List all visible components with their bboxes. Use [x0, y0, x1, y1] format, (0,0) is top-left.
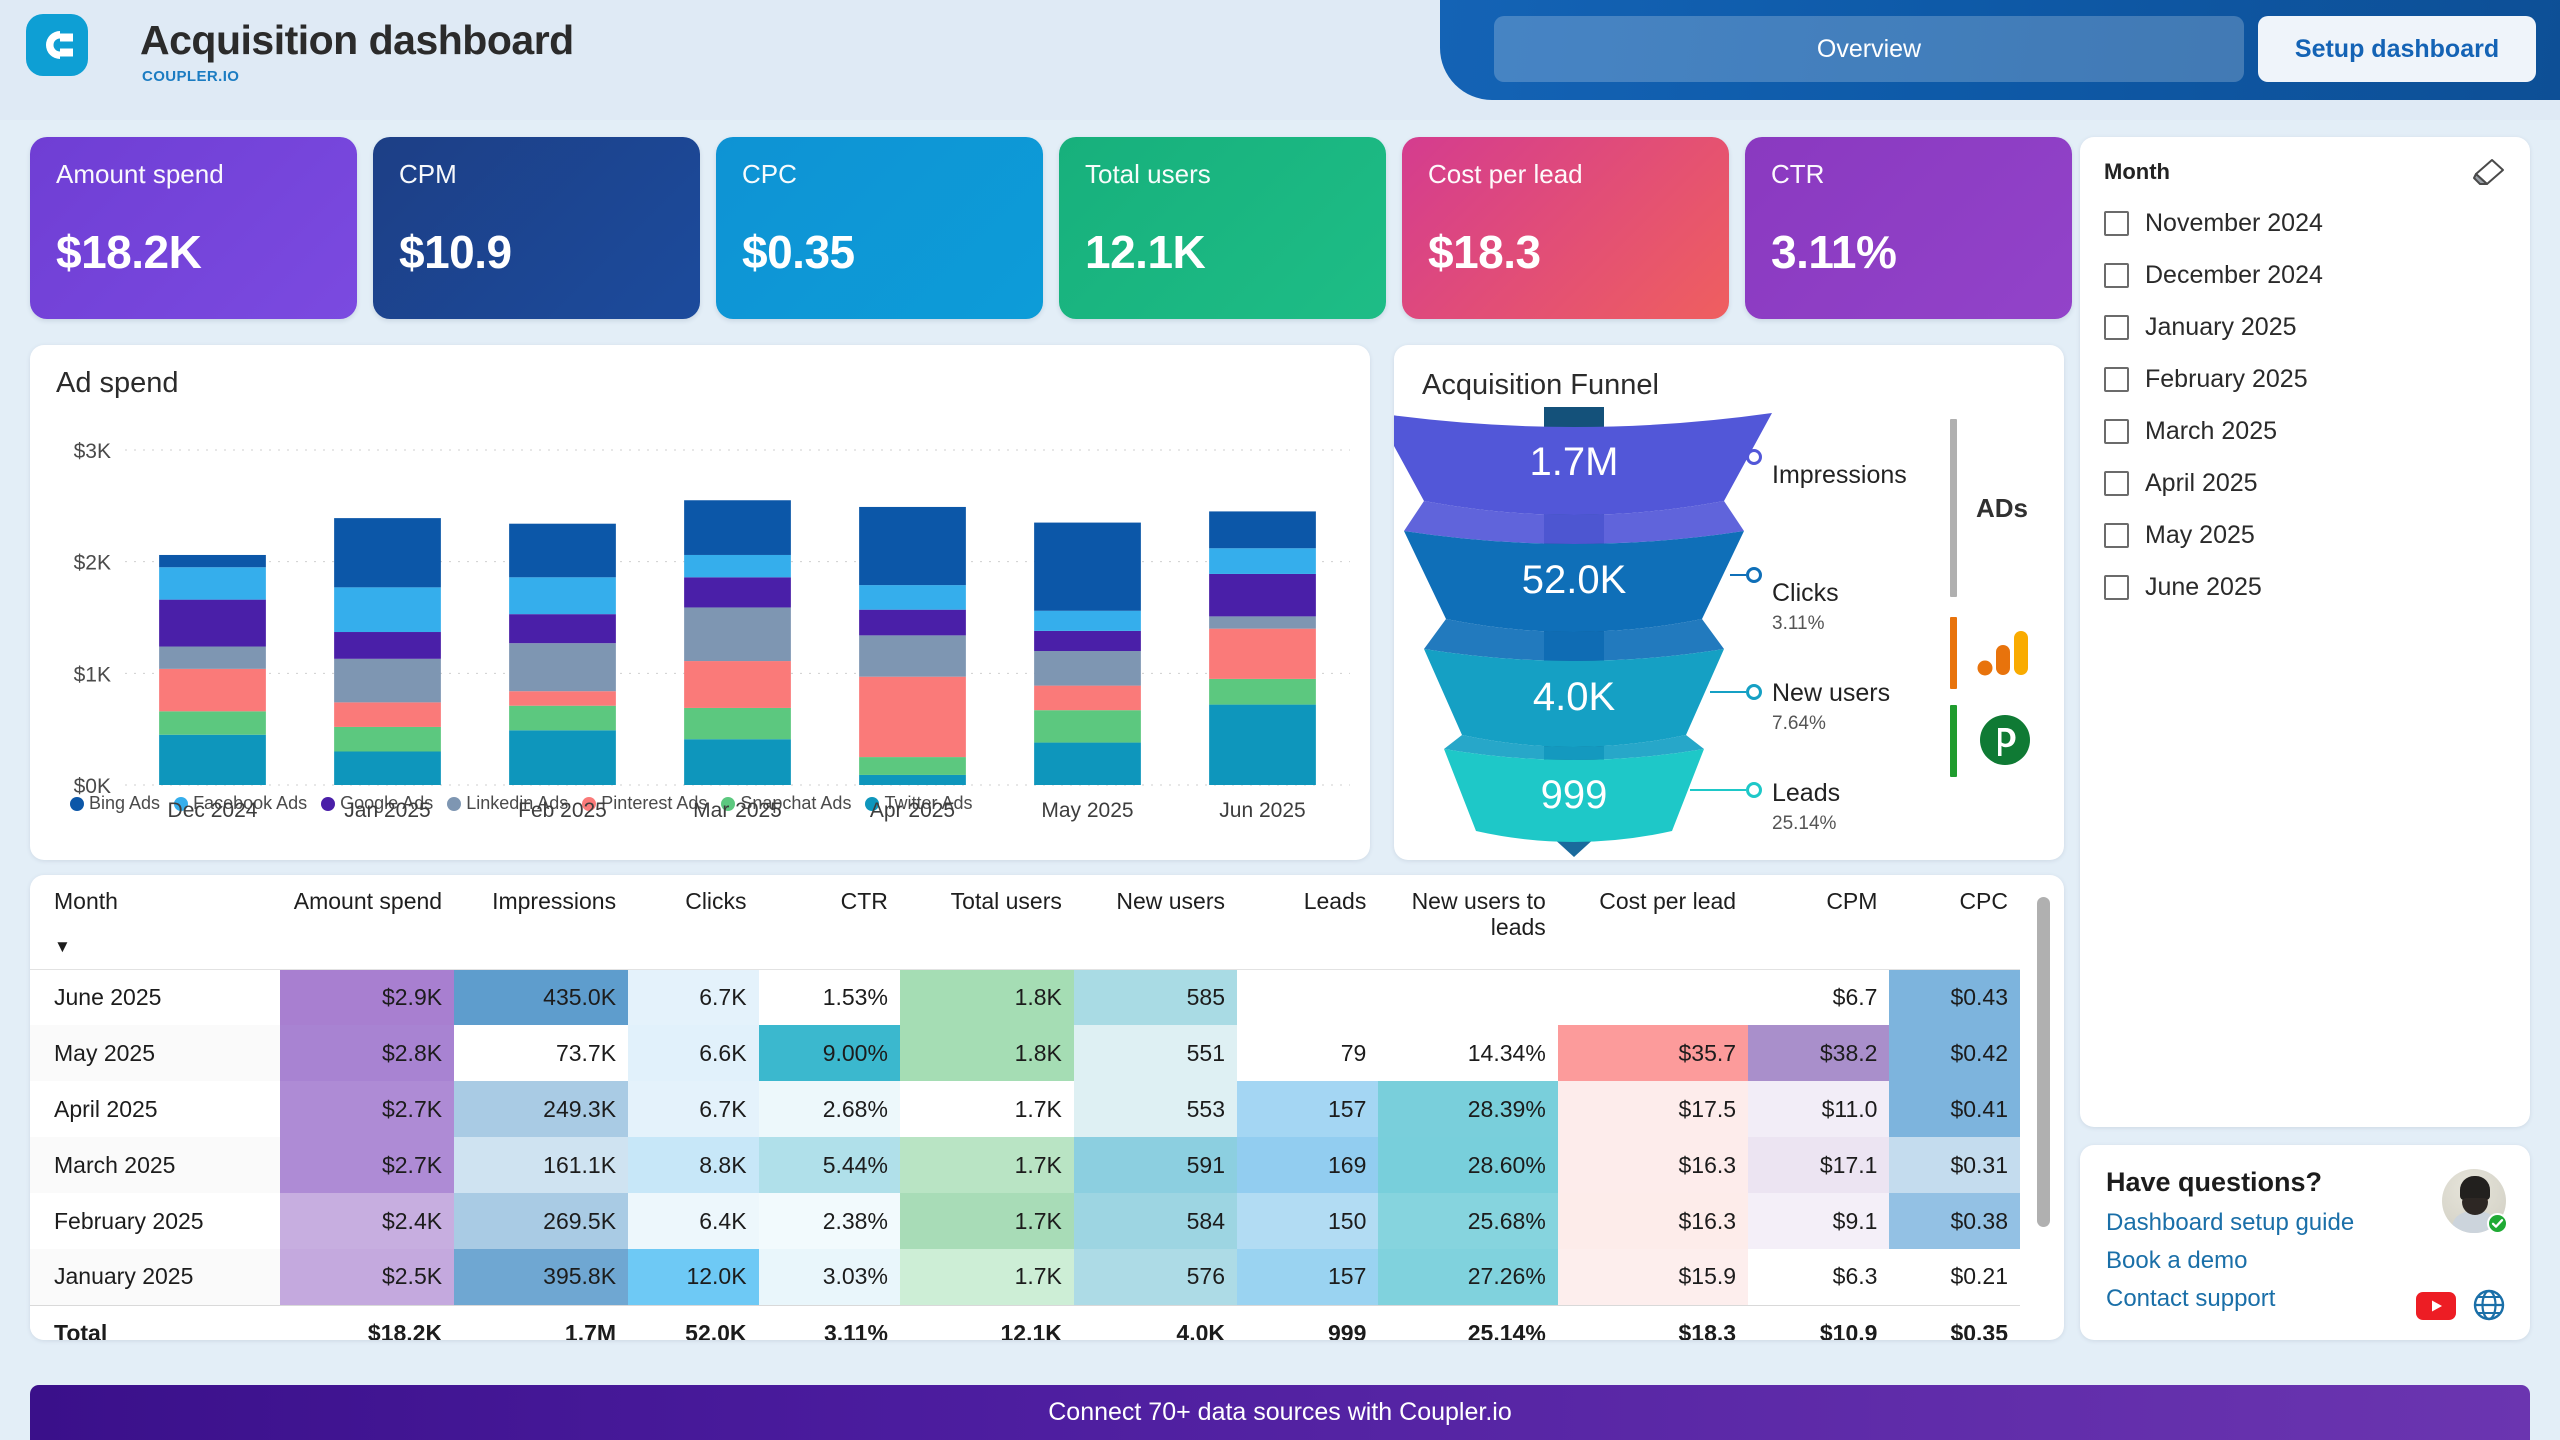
table-cell: $0.38 [1889, 1193, 2020, 1249]
month-option-label: April 2025 [2145, 469, 2258, 498]
table-cell: 28.39% [1378, 1081, 1557, 1137]
table-row[interactable]: January 2025$2.5K395.8K12.0K3.03%1.7K576… [30, 1249, 2020, 1305]
table-cell: 73.7K [454, 1025, 628, 1081]
checkbox-icon[interactable] [2104, 211, 2129, 236]
table-cell: 395.8K [454, 1249, 628, 1305]
column-header-new-users-to-leads[interactable]: New users to leads [1378, 875, 1557, 969]
table-total-cell: 3.11% [759, 1305, 900, 1340]
ads-rail-bar [1950, 419, 1957, 597]
column-header-label: Amount spend [294, 888, 442, 914]
svg-text:Jun 2025: Jun 2025 [1219, 799, 1305, 822]
table-cell: 6.4K [628, 1193, 758, 1249]
table-cell: 161.1K [454, 1137, 628, 1193]
table-cell: $2.7K [280, 1081, 454, 1137]
checkbox-icon[interactable] [2104, 523, 2129, 548]
svg-text:Dec 2024: Dec 2024 [168, 799, 258, 822]
tab-setup-dashboard[interactable]: Setup dashboard [2258, 16, 2536, 82]
coupler-logo-icon [26, 14, 88, 76]
acquisition-funnel-panel: Acquisition Funnel 1.7M52.0K4.0K999 Impr… [1394, 345, 2064, 860]
table-cell: 1.8K [900, 1025, 1074, 1081]
table-cell: 157 [1237, 1081, 1378, 1137]
svg-text:Feb 2025: Feb 2025 [518, 799, 607, 822]
coupler-logo-glyph [26, 14, 88, 76]
checkbox-icon[interactable] [2104, 367, 2129, 392]
table-cell: 157 [1237, 1249, 1378, 1305]
table-cell: 1.7K [900, 1137, 1074, 1193]
column-header-label: Impressions [492, 888, 616, 914]
table-cell: 28.60% [1378, 1137, 1557, 1193]
checkbox-icon[interactable] [2104, 315, 2129, 340]
sort-desc-icon[interactable]: ▼ [54, 937, 268, 956]
table-cell: 6.7K [628, 1081, 758, 1137]
table-cell: 79 [1237, 1025, 1378, 1081]
kpi-card-cpc[interactable]: CPC$0.35 [716, 137, 1043, 319]
column-header-cpc[interactable]: CPC [1889, 875, 2020, 969]
month-option-march-2025[interactable]: March 2025 [2104, 405, 2504, 457]
svg-text:$1K: $1K [74, 663, 111, 686]
kpi-label: Total users [1085, 159, 1360, 190]
table-cell: 1.7K [900, 1249, 1074, 1305]
table-cell: 585 [1074, 969, 1237, 1025]
funnel-label-impressions: Impressions [1772, 461, 1907, 490]
svg-text:$3K: $3K [74, 440, 111, 463]
table-cell: $0.21 [1889, 1249, 2020, 1305]
table-cell: March 2025 [30, 1137, 280, 1193]
table-total-cell: $10.9 [1748, 1305, 1889, 1340]
table-cell: 1.7K [900, 1081, 1074, 1137]
column-header-label: Clicks [685, 888, 746, 914]
table-total-cell: Total [30, 1305, 280, 1340]
table-scrollbar[interactable] [2037, 897, 2050, 1277]
column-header-ctr[interactable]: CTR [759, 875, 900, 969]
table-cell: $16.3 [1558, 1193, 1748, 1249]
table-cell: $0.41 [1889, 1081, 2020, 1137]
avatar [2442, 1169, 2506, 1233]
checkbox-icon[interactable] [2104, 471, 2129, 496]
column-header-cost-per-lead[interactable]: Cost per lead [1558, 875, 1748, 969]
month-option-december-2024[interactable]: December 2024 [2104, 249, 2504, 301]
kpi-card-ctr[interactable]: CTR3.11% [1745, 137, 2072, 319]
table-cell: 584 [1074, 1193, 1237, 1249]
table-cell: $16.3 [1558, 1137, 1748, 1193]
month-option-february-2025[interactable]: February 2025 [2104, 353, 2504, 405]
kpi-value: $0.35 [742, 225, 855, 279]
youtube-icon[interactable] [2416, 1292, 2456, 1320]
globe-icon[interactable] [2472, 1288, 2506, 1322]
avatar-hair [2460, 1176, 2490, 1200]
svg-text:Jan 2025: Jan 2025 [344, 799, 430, 822]
funnel-label-new-users: New users [1772, 679, 1890, 708]
month-option-january-2025[interactable]: January 2025 [2104, 301, 2504, 353]
table-cell: 435.0K [454, 969, 628, 1025]
checkbox-icon[interactable] [2104, 419, 2129, 444]
table-cell: $6.3 [1748, 1249, 1889, 1305]
table-cell [1237, 969, 1378, 1025]
app-header: Acquisition dashboard COUPLER.IO Overvie… [0, 0, 2560, 120]
table-total-cell: 25.14% [1378, 1305, 1557, 1340]
table-cell: $6.7 [1748, 969, 1889, 1025]
column-header-label: CTR [841, 888, 888, 914]
table-total-cell: 4.0K [1074, 1305, 1237, 1340]
pipedrive-icon [1976, 711, 2034, 769]
table-cell: 553 [1074, 1081, 1237, 1137]
table-cell: 150 [1237, 1193, 1378, 1249]
kpi-card-total-users[interactable]: Total users12.1K [1059, 137, 1386, 319]
svg-text:999: 999 [1541, 773, 1608, 817]
table-cell: April 2025 [30, 1081, 280, 1137]
column-header-label: New users to leads [1412, 888, 1546, 940]
pipedrive-rail-bar [1950, 705, 1957, 777]
table-total-cell: $18.3 [1558, 1305, 1748, 1340]
table-row[interactable]: April 2025$2.7K249.3K6.7K2.68%1.7K553157… [30, 1081, 2020, 1137]
column-header-label: CPM [1826, 888, 1877, 914]
table-cell: 6.6K [628, 1025, 758, 1081]
table-cell: $2.9K [280, 969, 454, 1025]
table-cell: 551 [1074, 1025, 1237, 1081]
table-cell: $0.31 [1889, 1137, 2020, 1193]
column-header-total-users[interactable]: Total users [900, 875, 1074, 969]
table-cell: 576 [1074, 1249, 1237, 1305]
table-cell: 27.26% [1378, 1249, 1557, 1305]
month-option-list: November 2024December 2024January 2025Fe… [2104, 197, 2504, 613]
svg-text:$2K: $2K [74, 552, 111, 575]
ad-spend-chart: $0K$1K$2K$3KDec 2024Jan 2025Feb 2025Mar … [30, 345, 1370, 860]
svg-text:May 2025: May 2025 [1041, 799, 1133, 822]
ads-label: ADs [1976, 493, 2028, 524]
table-cell: $0.42 [1889, 1025, 2020, 1081]
funnel-pct-clicks: 3.11% [1772, 613, 1824, 635]
verified-check-icon [2487, 1213, 2508, 1234]
funnel-graphic: 1.7M52.0K4.0K999 [1394, 345, 2064, 860]
table-cell: $38.2 [1748, 1025, 1889, 1081]
column-header-label: Cost per lead [1599, 888, 1736, 914]
table-row[interactable]: June 2025$2.9K435.0K6.7K1.53%1.8K585$6.7… [30, 969, 2020, 1025]
svg-text:$0K: $0K [74, 775, 111, 798]
kpi-value: $18.3 [1428, 225, 1541, 279]
table-cell: 1.7K [900, 1193, 1074, 1249]
table-row[interactable]: February 2025$2.4K269.5K6.4K2.38%1.7K584… [30, 1193, 2020, 1249]
table-cell: $2.4K [280, 1193, 454, 1249]
table-total-row: Total$18.2K1.7M52.0K3.11%12.1K4.0K99925.… [30, 1305, 2020, 1340]
month-slicer-title: Month [2104, 159, 2170, 185]
google-analytics-rail-bar [1950, 617, 1957, 689]
month-option-april-2025[interactable]: April 2025 [2104, 457, 2504, 509]
table-cell: $2.7K [280, 1137, 454, 1193]
funnel-label-leads: Leads [1772, 779, 1840, 808]
column-header-label: Month [54, 888, 118, 914]
table-header-row: Month▼Amount spendImpressionsClicksCTRTo… [30, 875, 2020, 969]
column-header-impressions[interactable]: Impressions [454, 875, 628, 969]
table-cell: $9.1 [1748, 1193, 1889, 1249]
table-cell: 5.44% [759, 1137, 900, 1193]
metrics-table: Month▼Amount spendImpressionsClicksCTRTo… [30, 875, 2020, 1340]
svg-text:52.0K: 52.0K [1522, 558, 1627, 602]
table-cell: 9.00% [759, 1025, 900, 1081]
table-cell: 3.03% [759, 1249, 900, 1305]
month-option-label: February 2025 [2145, 365, 2308, 394]
kpi-label: CTR [1771, 159, 2046, 190]
kpi-card-row: Amount spend$18.2KCPM$10.9CPC$0.35Total … [30, 137, 2072, 319]
table-total-cell: 999 [1237, 1305, 1378, 1340]
table-cell: 2.68% [759, 1081, 900, 1137]
table-cell: 8.8K [628, 1137, 758, 1193]
kpi-value: 3.11% [1771, 225, 1896, 279]
month-option-november-2024[interactable]: November 2024 [2104, 197, 2504, 249]
link-book-a-demo[interactable]: Book a demo [2106, 1247, 2247, 1275]
month-option-label: January 2025 [2145, 313, 2297, 342]
table-cell: 12.0K [628, 1249, 758, 1305]
tab-overview[interactable]: Overview [1494, 16, 2244, 82]
table-cell: February 2025 [30, 1193, 280, 1249]
table-total-cell: 52.0K [628, 1305, 758, 1340]
svg-text:1.7M: 1.7M [1530, 440, 1619, 484]
column-header-label: CPC [1959, 888, 2008, 914]
svg-text:Apr 2025: Apr 2025 [870, 799, 955, 822]
help-title: Have questions? [2106, 1167, 2322, 1198]
table-row[interactable]: March 2025$2.7K161.1K8.8K5.44%1.7K591169… [30, 1137, 2020, 1193]
month-option-label: November 2024 [2145, 209, 2323, 238]
table-row[interactable]: May 2025$2.8K73.7K6.6K9.00%1.8K5517914.3… [30, 1025, 2020, 1081]
kpi-label: Cost per lead [1428, 159, 1703, 190]
svg-text:4.0K: 4.0K [1533, 675, 1616, 719]
table-cell: $0.43 [1889, 969, 2020, 1025]
month-option-june-2025[interactable]: June 2025 [2104, 561, 2504, 613]
table-cell: $17.1 [1748, 1137, 1889, 1193]
column-header-new-users[interactable]: New users [1074, 875, 1237, 969]
table-scroll-thumb[interactable] [2037, 897, 2050, 1227]
eraser-icon[interactable] [2472, 157, 2506, 187]
kpi-label: CPM [399, 159, 674, 190]
month-option-may-2025[interactable]: May 2025 [2104, 509, 2504, 561]
month-option-label: March 2025 [2145, 417, 2277, 446]
table-cell: $15.9 [1558, 1249, 1748, 1305]
kpi-value: $10.9 [399, 225, 512, 279]
column-header-month[interactable]: Month▼ [30, 875, 280, 969]
table-cell: 25.68% [1378, 1193, 1557, 1249]
kpi-label: CPC [742, 159, 1017, 190]
table-cell: $2.5K [280, 1249, 454, 1305]
table-total-cell: 12.1K [900, 1305, 1074, 1340]
table-cell: 1.8K [900, 969, 1074, 1025]
svg-text:Mar 2025: Mar 2025 [693, 799, 782, 822]
table-cell: $17.5 [1558, 1081, 1748, 1137]
table-cell: 14.34% [1378, 1025, 1557, 1081]
kpi-label: Amount spend [56, 159, 331, 190]
table-total-cell: $18.2K [280, 1305, 454, 1340]
kpi-card-amount-spend[interactable]: Amount spend$18.2K [30, 137, 357, 319]
table-cell: May 2025 [30, 1025, 280, 1081]
table-cell: $11.0 [1748, 1081, 1889, 1137]
checkbox-icon[interactable] [2104, 263, 2129, 288]
checkbox-icon[interactable] [2104, 575, 2129, 600]
table-cell [1558, 969, 1748, 1025]
google-analytics-icon [1976, 623, 2036, 683]
funnel-label-clicks: Clicks [1772, 579, 1839, 608]
table-cell: $2.8K [280, 1025, 454, 1081]
column-header-label: New users [1116, 888, 1225, 914]
table-cell: $35.7 [1558, 1025, 1748, 1081]
table-body: June 2025$2.9K435.0K6.7K1.53%1.8K585$6.7… [30, 969, 2020, 1340]
help-panel: Have questions? Dashboard setup guide Bo… [2080, 1145, 2530, 1340]
kpi-value: $18.2K [56, 225, 201, 279]
column-header-label: Total users [951, 888, 1062, 914]
table-cell: 1.53% [759, 969, 900, 1025]
month-option-label: May 2025 [2145, 521, 2255, 550]
table-cell [1378, 969, 1557, 1025]
funnel-pct-new-users: 7.64% [1772, 713, 1826, 735]
link-dashboard-setup-guide[interactable]: Dashboard setup guide [2106, 1209, 2354, 1237]
table-total-cell: 1.7M [454, 1305, 628, 1340]
column-header-amount-spend[interactable]: Amount spend [280, 875, 454, 969]
kpi-card-cpm[interactable]: CPM$10.9 [373, 137, 700, 319]
table-cell: 6.7K [628, 969, 758, 1025]
ad-spend-panel: Ad spend Bing AdsFacebook AdsGoogle AdsL… [30, 345, 1370, 860]
kpi-value: 12.1K [1085, 225, 1205, 279]
link-contact-support[interactable]: Contact support [2106, 1285, 2275, 1313]
month-slicer-panel: Month November 2024December 2024January … [2080, 137, 2530, 1127]
table-cell: January 2025 [30, 1249, 280, 1305]
column-header-clicks[interactable]: Clicks [628, 875, 758, 969]
table-cell: 169 [1237, 1137, 1378, 1193]
column-header-label: Leads [1304, 888, 1367, 914]
footer-banner[interactable]: Connect 70+ data sources with Coupler.io [30, 1385, 2530, 1440]
table-total-cell: $0.35 [1889, 1305, 2020, 1340]
table-cell: 249.3K [454, 1081, 628, 1137]
page-title: Acquisition dashboard [140, 17, 574, 64]
month-option-label: December 2024 [2145, 261, 2323, 290]
kpi-card-cost-per-lead[interactable]: Cost per lead$18.3 [1402, 137, 1729, 319]
column-header-leads[interactable]: Leads [1237, 875, 1378, 969]
funnel-pct-leads: 25.14% [1772, 813, 1836, 835]
table-cell: 2.38% [759, 1193, 900, 1249]
brand-subtitle: COUPLER.IO [142, 68, 239, 85]
table-cell: 591 [1074, 1137, 1237, 1193]
metrics-table-panel: Month▼Amount spendImpressionsClicksCTRTo… [30, 875, 2064, 1340]
month-option-label: June 2025 [2145, 573, 2262, 602]
table-cell: June 2025 [30, 969, 280, 1025]
column-header-cpm[interactable]: CPM [1748, 875, 1889, 969]
table-cell: 269.5K [454, 1193, 628, 1249]
